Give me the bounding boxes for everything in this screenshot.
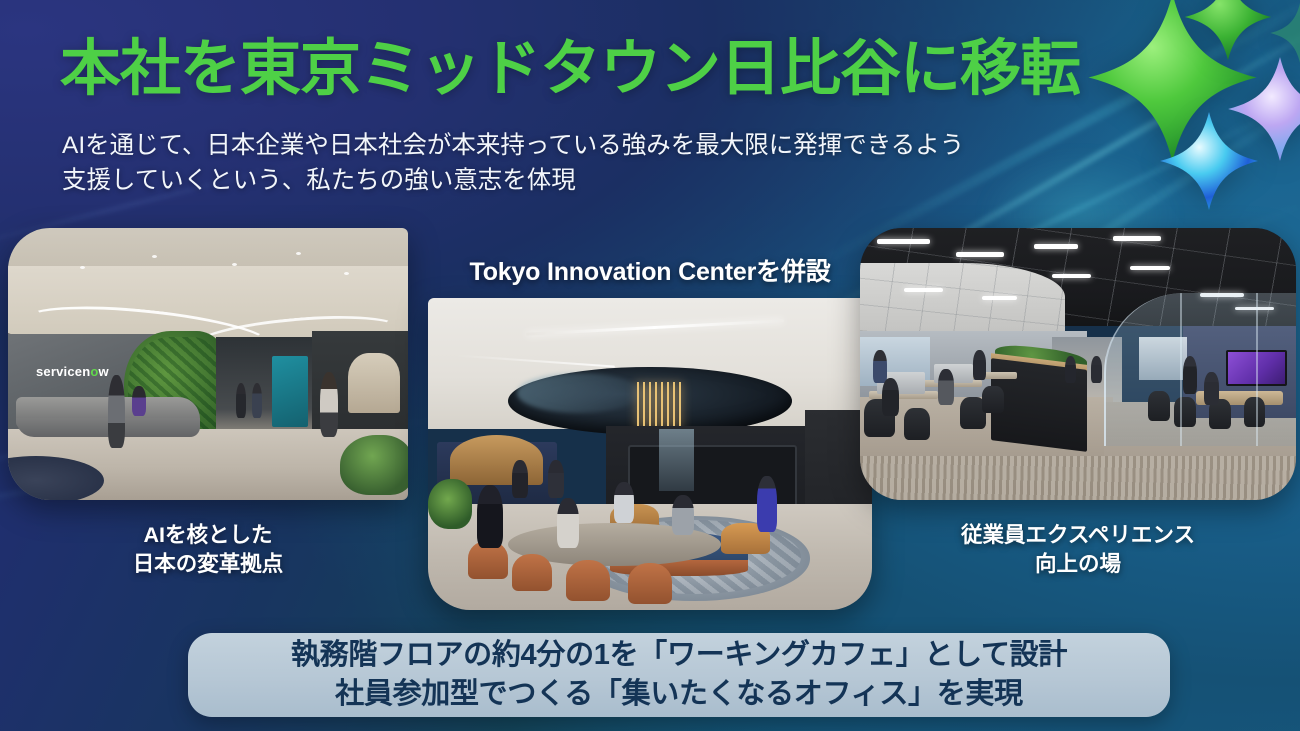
left-caption-line-2: 日本の変革拠点 (8, 550, 408, 579)
photo-innovation-center-lounge (428, 298, 872, 610)
page-subtitle: AIを通じて、日本企業や日本社会が本来持っている強みを最大限に発揮できるよう 支… (62, 129, 1092, 199)
left-photo-caption: AIを核とした 日本の変革拠点 (8, 521, 408, 579)
sparkle-star-teal-icon (1269, 2, 1300, 64)
right-caption-line-1: 従業員エクスペリエンス (860, 521, 1296, 550)
sparkle-star-green-small-icon (1183, 0, 1273, 62)
subtitle-line-1: AIを通じて、日本企業や日本社会が本来持っている強みを最大限に発揮できるよう (62, 129, 1092, 164)
right-photo-caption: 従業員エクスペリエンス 向上の場 (860, 521, 1296, 579)
left-caption-line-1: AIを核とした (8, 521, 408, 550)
banner-line-1: 執務階フロアの約4分の1を「ワーキングカフェ」として設計 (291, 636, 1067, 675)
subtitle-line-2: 支援していくという、私たちの強い意志を体現 (62, 164, 1092, 199)
servicenow-logo: servicenow (36, 364, 109, 379)
presentation-slide: 本社を東京ミッドタウン日比谷に移転 AIを通じて、日本企業や日本社会が本来持って… (0, 0, 1300, 731)
right-caption-line-2: 向上の場 (860, 550, 1296, 579)
bottom-banner: 執務階フロアの約4分の1を「ワーキングカフェ」として設計 社員参加型でつくる「集… (188, 633, 1170, 717)
sparkle-star-violet-icon (1226, 55, 1300, 163)
sparkle-star-cyan-icon (1158, 110, 1260, 212)
banner-line-2: 社員参加型でつくる「集いたくなるオフィス」を実現 (335, 675, 1023, 714)
photo-lobby-servicenow: servicenow (8, 228, 408, 500)
page-title: 本社を東京ミッドタウン日比谷に移転 (60, 36, 1120, 101)
photo-open-office (860, 228, 1296, 500)
center-photo-caption: Tokyo Innovation Centerを併設 (428, 252, 872, 288)
